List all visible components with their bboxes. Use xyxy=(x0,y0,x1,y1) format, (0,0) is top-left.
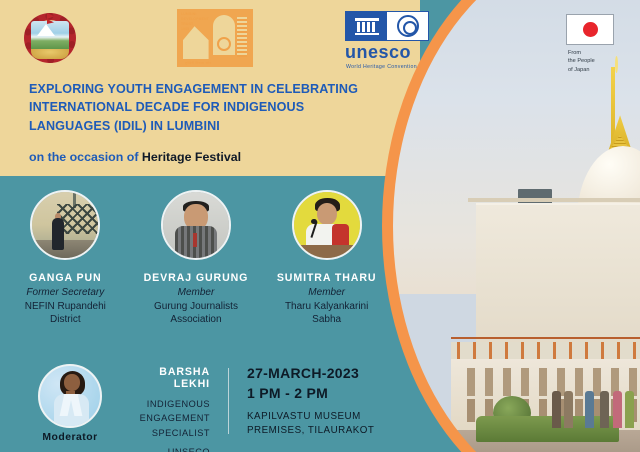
visitor xyxy=(613,391,622,428)
occasion-event: Heritage Festival xyxy=(142,150,241,164)
event-venue-line2: PREMISES, TILAURAKOT xyxy=(247,424,374,438)
event-time: 1 PM - 2 PM xyxy=(247,384,374,404)
japan-caption-line1: From xyxy=(568,49,620,57)
speaker-org-line2: District xyxy=(4,313,126,327)
speaker-org-line1: NEFIN Rupandehi xyxy=(4,300,126,314)
moderator-org: UNSECO xyxy=(120,447,210,452)
speaker-role: Member xyxy=(135,286,257,300)
title-line-2: INTERNATIONAL DECADE FOR INDIGENOUS xyxy=(29,98,389,116)
japan-caption-line2: the People xyxy=(568,57,620,65)
speaker-name: GANGA PUN xyxy=(4,272,126,284)
event-details: 27-MARCH-2023 1 PM - 2 PM KAPILVASTU MUS… xyxy=(247,364,374,438)
moderator-block: Moderator xyxy=(20,364,120,443)
speaker-card: DEVRAJ GURUNG Member Gurung Journalists … xyxy=(135,190,257,327)
nepal-emblem-icon xyxy=(21,10,79,66)
speaker-photo-sumitra-tharu xyxy=(292,190,362,260)
visitor xyxy=(585,391,594,428)
unesco-wordmark: unesco xyxy=(345,43,440,62)
speaker-org-line2: Sabha xyxy=(266,313,388,327)
unesco-temple-icon xyxy=(346,12,387,40)
title-line-1: EXPLORING YOUTH ENGAGEMENT IN CELEBRATIN… xyxy=(29,80,389,98)
speaker-role: Former Secretary xyxy=(4,286,126,300)
speaker-card: GANGA PUN Former Secretary NEFIN Rupande… xyxy=(4,190,126,327)
japan-flag-icon xyxy=(566,14,614,45)
japan-caption: From the People of Japan xyxy=(560,49,620,74)
occasion-line: on the occasion of Heritage Festival xyxy=(29,150,241,165)
moderator-role-line2: ENGAGEMENT xyxy=(120,411,210,425)
moderator-role-line3: SPECIALIST xyxy=(120,426,210,440)
bottom-section: Moderator BARSHA LEKHI INDIGENOUS ENGAGE… xyxy=(0,358,400,452)
event-date: 27-MARCH-2023 xyxy=(247,364,374,384)
unesco-subtitle: World Heritage Convention xyxy=(346,64,440,70)
event-venue-line1: KAPILVASTU MUSEUM xyxy=(247,410,374,424)
speaker-name: DEVRAJ GURUNG xyxy=(135,272,257,284)
visitor xyxy=(564,391,573,428)
speaker-role: Member xyxy=(266,286,388,300)
speakers-row: GANGA PUN Former Secretary NEFIN Rupande… xyxy=(0,190,392,327)
unesco-logo: unesco World Heritage Convention xyxy=(338,11,440,67)
moderator-photo-barsha-lekhi xyxy=(38,364,102,428)
moderator-name: BARSHA LEKHI xyxy=(120,366,210,390)
vertical-divider xyxy=(228,368,229,434)
japan-caption-line3: of Japan xyxy=(568,66,620,74)
speaker-org-line2: Association xyxy=(135,313,257,327)
occasion-prefix: on the occasion of xyxy=(29,150,142,164)
visitor xyxy=(625,391,634,428)
speaker-org-line1: Gurung Journalists xyxy=(135,300,257,314)
speaker-name: SUMITRA THARU xyxy=(266,272,388,284)
japan-support-badge: From the People of Japan xyxy=(560,14,620,74)
speaker-org-line1: Tharu Kalyankarini xyxy=(266,300,388,314)
ldt-bottom-text: लुम्बिनी विकास कोष xyxy=(185,61,211,65)
moderator-label: Moderator xyxy=(20,432,120,443)
page-title: EXPLORING YOUTH ENGAGEMENT IN CELEBRATIN… xyxy=(29,80,389,135)
lumbini-development-trust-logo-icon: LUMBINIDEVELOPMENTTRUST1985 लुम्बिनी विक… xyxy=(177,9,253,67)
visitor xyxy=(600,391,609,428)
speaker-photo-devraj-gurung xyxy=(161,190,231,260)
moderator-info: BARSHA LEKHI INDIGENOUS ENGAGEMENT SPECI… xyxy=(120,366,210,452)
moderator-role-line1: INDIGENOUS xyxy=(120,397,210,411)
speaker-photo-ganga-pun xyxy=(30,190,100,260)
speaker-card: SUMITRA THARU Member Tharu Kalyankarini … xyxy=(266,190,388,327)
ldt-top-text: LUMBINIDEVELOPMENTTRUST1985 xyxy=(181,12,209,32)
visitor xyxy=(552,391,561,428)
title-line-3: LANGUAGES (IDIL) IN LUMBINI xyxy=(29,117,389,135)
event-poster: LUMBINIDEVELOPMENTTRUST1985 लुम्बिनी विक… xyxy=(0,0,640,452)
world-heritage-emblem-icon xyxy=(387,12,428,40)
